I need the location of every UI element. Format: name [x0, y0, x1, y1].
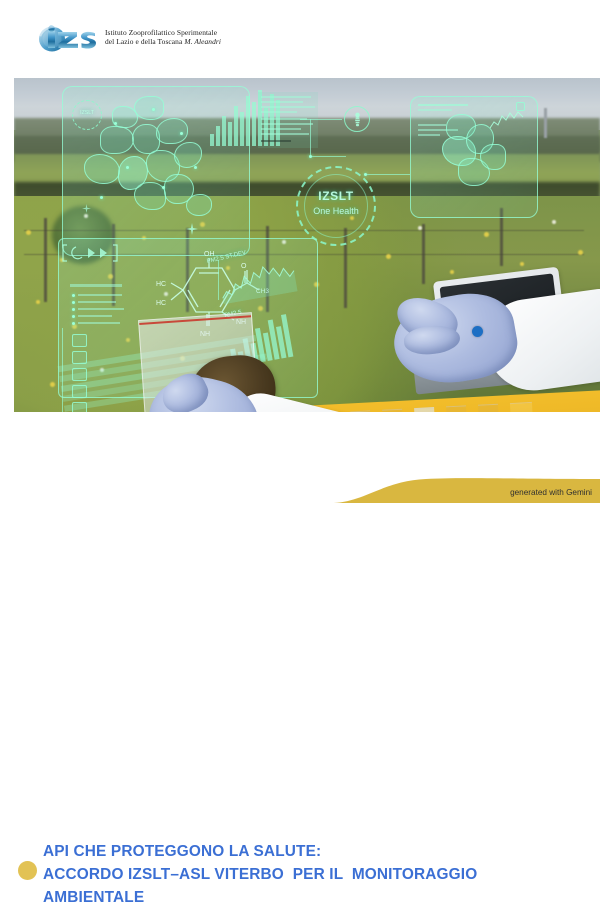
page-title-line1: API CHE PROTEGGONO LA SALUTE: — [43, 840, 588, 863]
page-title-line3: AMBIENTALE — [43, 886, 588, 909]
institute-name: Istituto Zooprofilattico Sperimentale de… — [105, 29, 221, 46]
institute-name-line2-italic: M. Aleandri — [184, 37, 221, 46]
slide-canvas: Istituto Zooprofilattico Sperimentale de… — [0, 0, 600, 503]
izs-logo-icon — [38, 22, 98, 54]
page-title-line2: ACCORDO IZSLT–ASL VITERBO PER IL MONITOR… — [43, 863, 588, 886]
bullet-dot — [18, 861, 37, 880]
chimney — [544, 108, 547, 138]
blue-marker-dot — [472, 326, 483, 337]
hero-photo: IZSLT — [14, 78, 600, 412]
institute-name-line2-main: del Lazio e della Toscana — [105, 37, 184, 46]
izs-logo: Istituto Zooprofilattico Sperimentale de… — [38, 22, 221, 54]
page-title: API CHE PROTEGGONO LA SALUTE: ACCORDO IZ… — [43, 840, 588, 909]
generated-with-label: generated with Gemini — [510, 488, 592, 497]
header: Istituto Zooprofilattico Sperimentale de… — [0, 0, 600, 78]
institute-name-line2: del Lazio e della Toscana M. Aleandri — [105, 38, 221, 47]
caption-area: API CHE PROTEGGONO LA SALUTE: ACCORDO IZ… — [0, 412, 600, 503]
gemini-banner-shape — [330, 471, 600, 503]
